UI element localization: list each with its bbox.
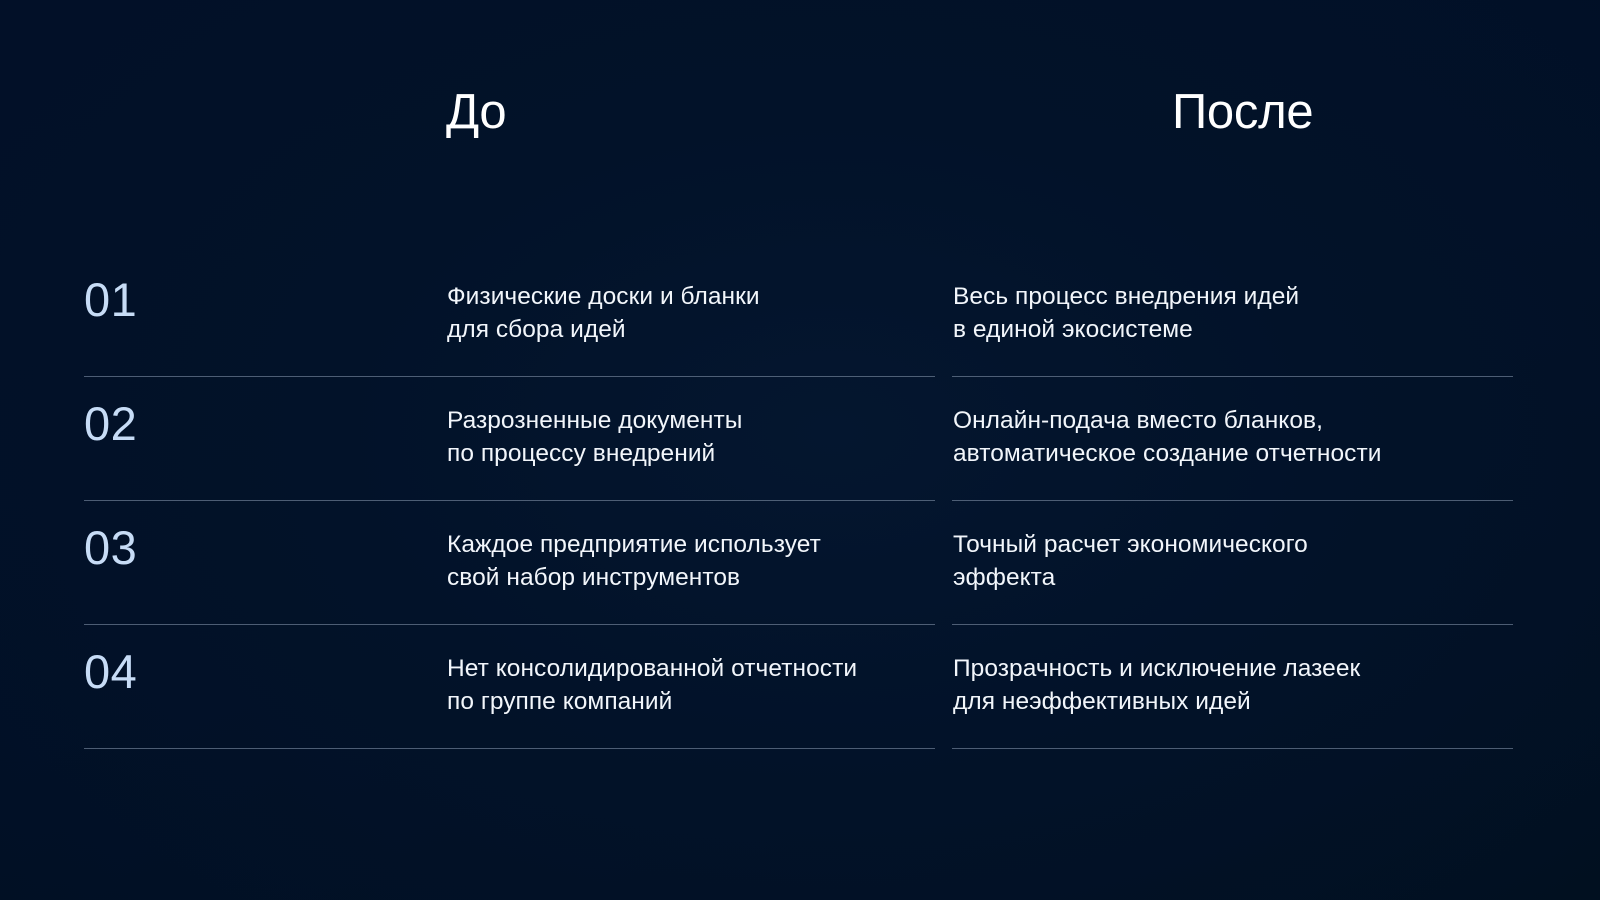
row-number: 03 [84,520,137,576]
row-cell-before: Разрозненные документы по процессу внедр… [447,404,917,470]
table-row: 04 Нет консолидированной отчетности по г… [0,624,1600,748]
table-row: 01 Физические доски и бланки для сбора и… [0,252,1600,376]
comparison-rows: 01 Физические доски и бланки для сбора и… [0,252,1600,748]
column-header-after: После [1172,82,1313,142]
row-cell-before: Каждое предприятие использует свой набор… [447,528,917,594]
row-divider-left [84,748,935,749]
row-cell-after: Точный расчет экономического эффекта [953,528,1513,594]
row-divider [0,748,1600,749]
column-headers: До После [0,82,1600,152]
row-number: 01 [84,272,137,328]
row-cell-before: Нет консолидированной отчетности по груп… [447,652,917,718]
row-number: 02 [84,396,137,452]
row-cell-after: Весь процесс внедрения идей в единой эко… [953,280,1513,346]
row-cell-after: Онлайн-подача вместо бланков, автоматиче… [953,404,1513,470]
row-cell-after: Прозрачность и исключение лазеек для неэ… [953,652,1513,718]
table-row: 02 Разрозненные документы по процессу вн… [0,376,1600,500]
comparison-slide: До После 01 Физические доски и бланки дл… [0,0,1600,900]
column-header-before: До [446,82,506,142]
row-divider-right [952,748,1513,749]
row-number: 04 [84,644,137,700]
row-cell-before: Физические доски и бланки для сбора идей [447,280,917,346]
table-row: 03 Каждое предприятие использует свой на… [0,500,1600,624]
